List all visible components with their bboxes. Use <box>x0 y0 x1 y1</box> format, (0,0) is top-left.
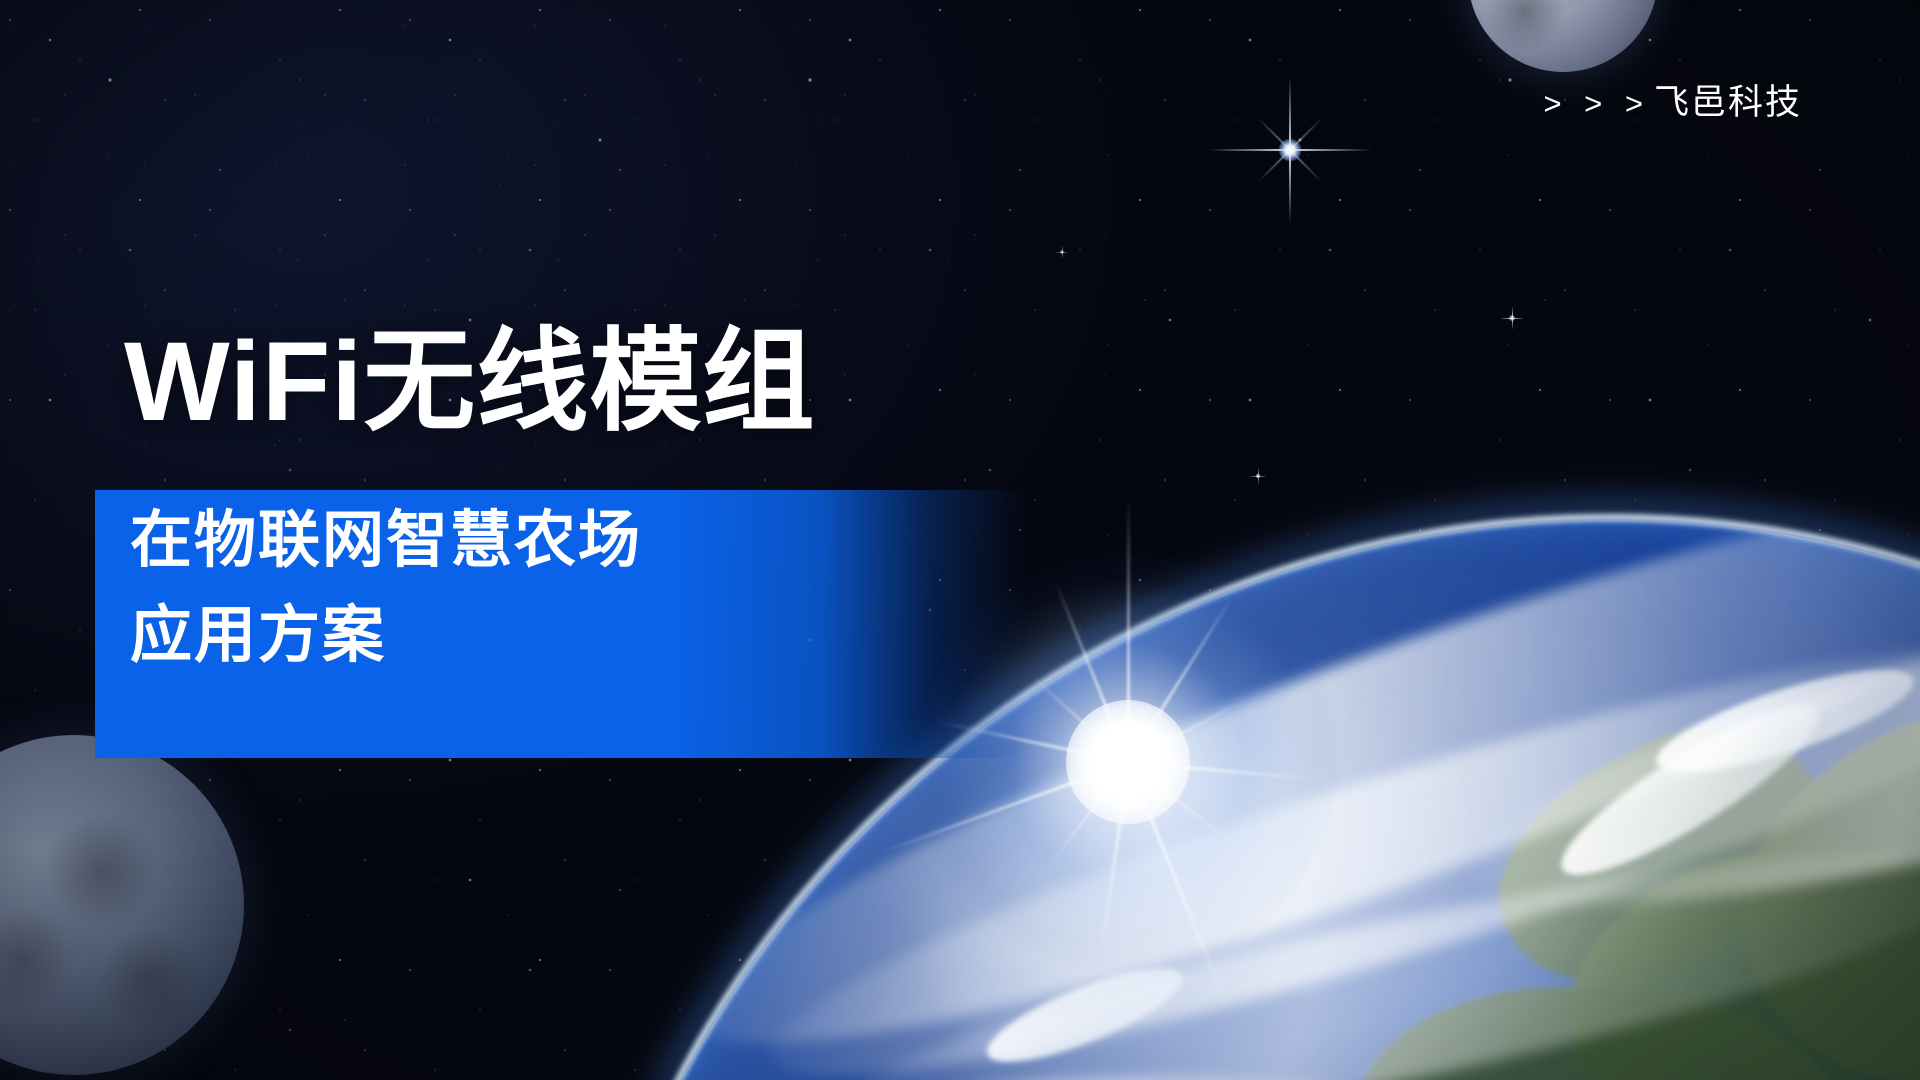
subtitle-line-1: 在物联网智慧农场 <box>130 508 642 575</box>
subtitle-line-2: 应用方案 <box>130 603 642 670</box>
brand-logo[interactable]: > > > 飞邑科技 <box>1543 85 1802 120</box>
brand-name: 飞邑科技 <box>1654 85 1802 120</box>
star-core <box>1279 139 1301 161</box>
chevron-right-icons: > > > <box>1543 88 1650 119</box>
subtitle-banner-lines: 在物联网智慧农场 应用方案 <box>130 508 642 670</box>
subtitle-banner: 在物联网智慧农场 应用方案 <box>95 490 1025 758</box>
page-title: WiFi无线模组 <box>124 326 815 438</box>
sun-core <box>1066 700 1190 824</box>
poster-canvas: > > > 飞邑科技 WiFi无线模组 在物联网智慧农场 应用方案 <box>0 0 1920 1080</box>
